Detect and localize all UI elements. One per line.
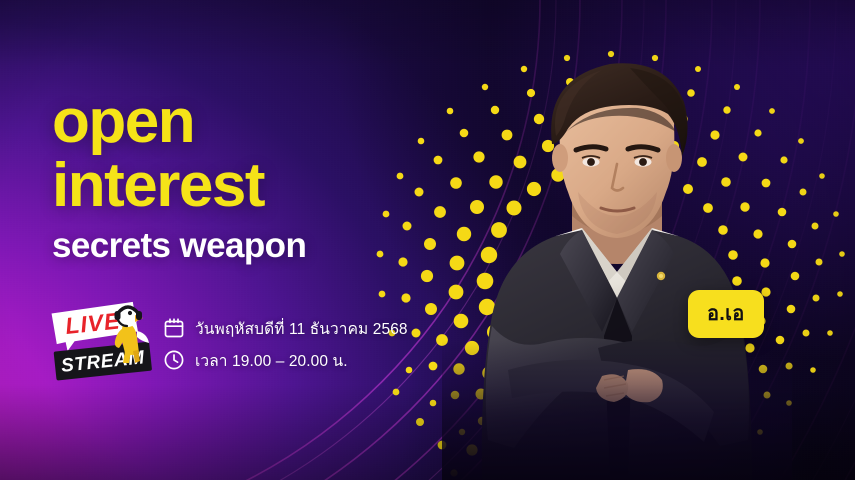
vignette-overlay: [0, 0, 855, 480]
promo-banner: open interest secrets weapon LIVE STREAM: [0, 0, 855, 480]
